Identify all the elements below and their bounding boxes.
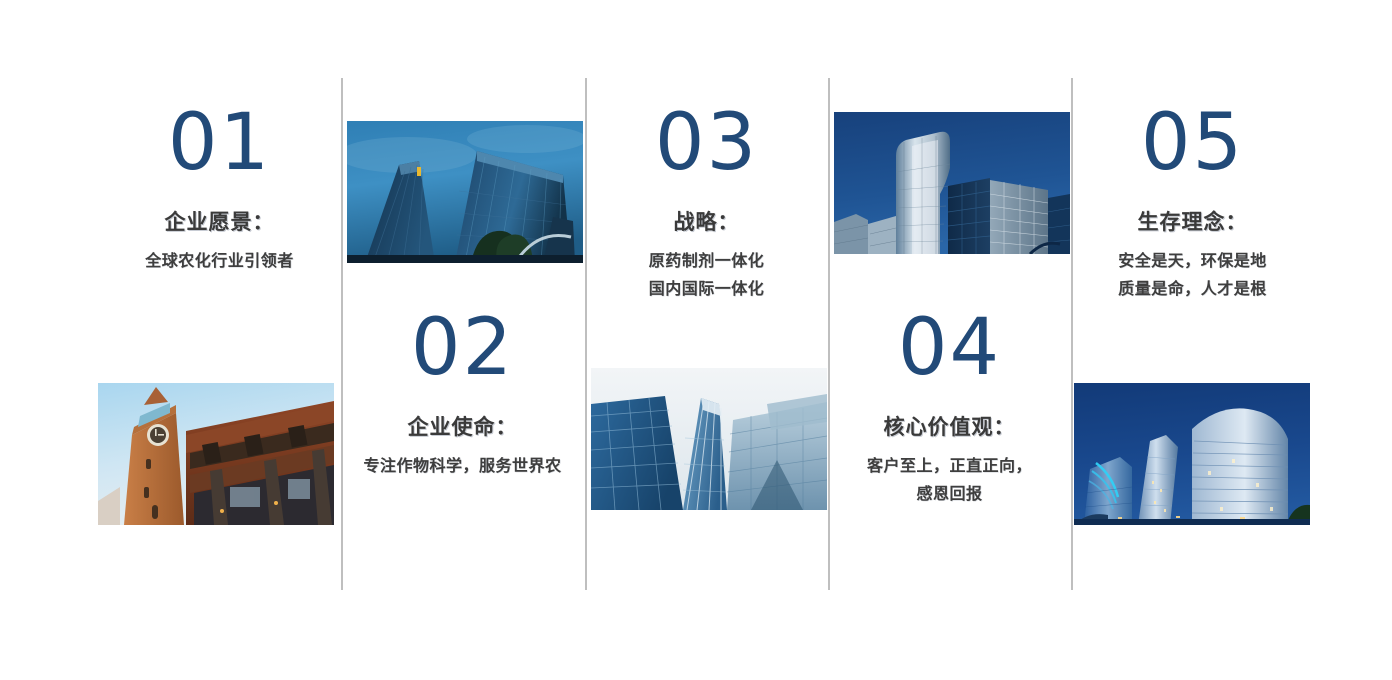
pillar-number-04: 04 — [828, 311, 1071, 385]
pillar-number-05: 05 — [1071, 106, 1314, 180]
pillar-column-01: 01 企业愿景： 全球农化行业引领者 — [98, 78, 341, 590]
pillar-number-02: 02 — [341, 311, 584, 385]
pillar-column-03: 03 战略： 原药制剂一体化 国内国际一体化 — [585, 78, 828, 590]
pillar-heading-03: 战略： — [585, 206, 828, 236]
pillar-body-line: 全球农化行业引领者 — [98, 248, 341, 276]
pillar-heading-04: 核心价值观： — [828, 411, 1071, 441]
pillar-body-line: 专注作物科学，服务世界农 — [341, 453, 584, 481]
twin-glass-towers-photo — [347, 121, 583, 263]
pillar-body-04: 客户至上，正直正向， 感恩回报 — [828, 453, 1071, 509]
pillar-heading-01: 企业愿景： — [98, 206, 341, 236]
pillar-body-01: 全球农化行业引领者 — [98, 248, 341, 276]
curved-skyscraper-photo — [834, 112, 1070, 254]
pillar-text-02: 02 企业使命： 专注作物科学，服务世界农 — [341, 311, 584, 481]
pillar-body-line: 安全是天，环保是地 — [1071, 248, 1314, 276]
pillar-body-05: 安全是天，环保是地 质量是命，人才是根 — [1071, 248, 1314, 304]
pillar-text-04: 04 核心价值观： 客户至上，正直正向， 感恩回报 — [828, 311, 1071, 509]
pillar-column-04: 04 核心价值观： 客户至上，正直正向， 感恩回报 — [828, 78, 1071, 590]
pillar-body-line: 感恩回报 — [828, 481, 1071, 509]
night-city-skyline-photo — [1074, 383, 1310, 525]
pillar-number-01: 01 — [98, 106, 341, 180]
pillar-column-05: 05 生存理念： 安全是天，环保是地 质量是命，人才是根 — [1071, 78, 1314, 590]
pillar-text-05: 05 生存理念： 安全是天，环保是地 质量是命，人才是根 — [1071, 106, 1314, 304]
pillar-body-02: 专注作物科学，服务世界农 — [341, 453, 584, 481]
pillar-heading-05: 生存理念： — [1071, 206, 1314, 236]
pillar-column-02: 02 企业使命： 专注作物科学，服务世界农 — [341, 78, 584, 590]
clock-tower-building-photo — [98, 383, 334, 525]
pillar-text-03: 03 战略： 原药制剂一体化 国内国际一体化 — [585, 106, 828, 304]
pillar-body-line: 原药制剂一体化 — [585, 248, 828, 276]
pillar-body-line: 国内国际一体化 — [585, 276, 828, 304]
pillar-text-01: 01 企业愿景： 全球农化行业引领者 — [98, 106, 341, 276]
pillar-heading-02: 企业使命： — [341, 411, 584, 441]
culture-pillars-board: 01 企业愿景： 全球农化行业引领者 — [0, 0, 1392, 680]
pillar-body-03: 原药制剂一体化 国内国际一体化 — [585, 248, 828, 304]
pillar-body-line: 质量是命，人才是根 — [1071, 276, 1314, 304]
glass-facade-corner-photo — [591, 368, 827, 510]
pillar-body-line: 客户至上，正直正向， — [828, 453, 1071, 481]
pillar-number-03: 03 — [585, 106, 828, 180]
